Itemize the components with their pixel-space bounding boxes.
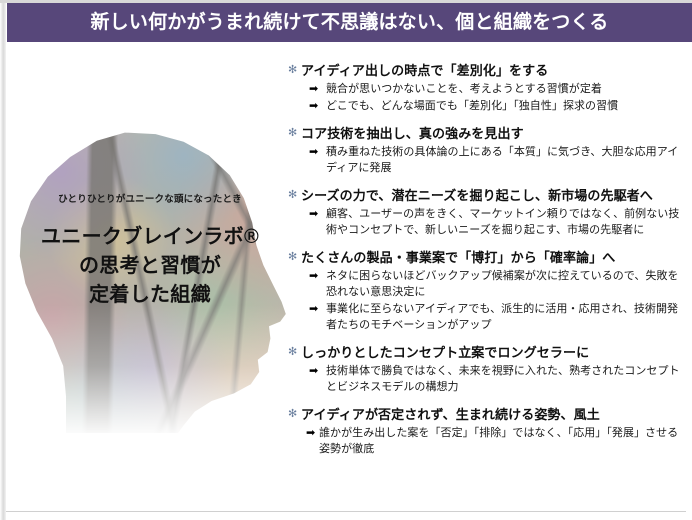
sub-bullet-label: 積み重ねた技術の具体論の上にある「本質」に気づき、大胆な応用アイディアに発展: [326, 144, 686, 176]
main-bullet-item: ✻ しっかりとしたコンセプト立案でロングセラーに: [288, 344, 686, 361]
asterisk-bullet-icon: ✻: [288, 62, 301, 79]
sub-bullet-label: 顧客、ユーザーの声をきく、マーケットイン頼りではなく、前例ない技術やコンセプトで…: [326, 206, 686, 238]
main-bullet-label: しっかりとしたコンセプト立案でロングセラーに: [301, 344, 686, 361]
asterisk-bullet-icon: ✻: [288, 249, 301, 266]
main-bullet-item: ✻ アイディアが否定されず、生まれ続ける姿勢、風土: [288, 406, 686, 423]
asterisk-bullet-icon: ✻: [288, 344, 301, 361]
sub-bullet-item: ➡ 競合が思いつかないことを、考えようとする習慣が定着: [309, 81, 686, 97]
bullet-group: ✻ アイディアが否定されず、生まれ続ける姿勢、風土 ➡ 誰かが生み出した案を「否…: [288, 406, 686, 457]
arrow-right-icon: ➡: [309, 81, 326, 97]
arrow-right-icon: ➡: [309, 301, 326, 317]
main-bullet-item: ✻ コア技術を抽出し、真の強みを見出す: [288, 125, 686, 142]
bullet-list: ✻ アイディア出しの時点で「差別化」をする ➡ 競合が思いつかないことを、考えよ…: [288, 62, 686, 458]
slide-title-bar: 新しい何かがうまれ続けて不思議はない、個と組織をつくる: [7, 3, 692, 42]
main-bullet-item: ✻ シーズの力で、潜在ニーズを掘り起こし、新市場の先駆者へ: [288, 187, 686, 204]
slide-canvas: 新しい何かがうまれ続けて不思議はない、個と組織をつくる ひとりひとりがユニークな…: [0, 0, 692, 520]
main-bullet-item: ✻ アイディア出しの時点で「差別化」をする: [288, 62, 686, 79]
head-title-line-2: の思考と習慣が: [10, 252, 290, 281]
arrow-right-icon: ➡: [309, 206, 326, 222]
arrow-right-icon: ➡: [309, 98, 326, 114]
main-bullet-item: ✻ たくさんの製品・事業案で「博打」から「確率論」へ: [288, 249, 686, 266]
main-bullet-label: シーズの力で、潜在ニーズを掘り起こし、新市場の先駆者へ: [301, 187, 686, 204]
sub-bullet-item: ➡ 技術単体で勝負ではなく、未来を視野に入れた、熟考されたコンセプトとビジネスモ…: [309, 363, 686, 395]
bullet-group: ✻ たくさんの製品・事業案で「博打」から「確率論」へ ➡ ネタに困らないほどバッ…: [288, 249, 686, 333]
head-title-line-1: ユニークブレインラボ®: [10, 223, 290, 252]
head-title-line-3: 定着した組織: [10, 281, 290, 310]
sub-bullet-item: ➡ 顧客、ユーザーの声をきく、マーケットイン頼りではなく、前例ない技術やコンセプ…: [309, 206, 686, 238]
sub-bullet-label: 競合が思いつかないことを、考えようとする習慣が定着: [326, 81, 686, 97]
arrow-right-icon: ➡: [309, 268, 326, 284]
sub-bullet-item: ➡ ネタに困らないほどバックアップ候補案が次に控えているので、失敗を恐れない意思…: [309, 268, 686, 300]
bullet-group: ✻ しっかりとしたコンセプト立案でロングセラーに ➡ 技術単体で勝負ではなく、未…: [288, 344, 686, 395]
sub-bullet-item: ➡ 積み重ねた技術の具体論の上にある「本質」に気づき、大胆な応用アイディアに発展: [309, 144, 686, 176]
arrow-right-icon: ➡: [309, 144, 326, 160]
sub-bullet-item: ➡ 事業化に至らないアイディアでも、派生的に活用・応用され、技術開発者たちのモチ…: [309, 301, 686, 333]
arrow-right-icon: ➡: [306, 425, 319, 441]
main-bullet-label: アイディアが否定されず、生まれ続ける姿勢、風土: [301, 406, 686, 423]
slide-title: 新しい何かがうまれ続けて不思議はない、個と組織をつくる: [90, 13, 608, 32]
bullet-group: ✻ アイディア出しの時点で「差別化」をする ➡ 競合が思いつかないことを、考えよ…: [288, 62, 686, 114]
arrow-right-icon: ➡: [309, 363, 326, 379]
sub-bullet-label: 事業化に至らないアイディアでも、派生的に活用・応用され、技術開発者たちのモチベー…: [326, 301, 686, 333]
sub-bullet-item: ➡ 誰かが生み出した案を「否定」「排除」ではなく、「応用」「発展」させる姿勢が徹…: [306, 425, 686, 457]
main-bullet-label: アイディア出しの時点で「差別化」をする: [301, 62, 686, 79]
page-edge-left: [0, 0, 6, 520]
asterisk-bullet-icon: ✻: [288, 125, 301, 142]
head-graphic-panel: ひとりひとりがユニークな頭になったとき ユニークブレインラボ® の思考と習慣が …: [10, 128, 290, 433]
bullet-group: ✻ シーズの力で、潜在ニーズを掘り起こし、新市場の先駆者へ ➡ 顧客、ユーザーの…: [288, 187, 686, 238]
main-bullet-label: コア技術を抽出し、真の強みを見出す: [301, 125, 686, 142]
asterisk-bullet-icon: ✻: [288, 406, 301, 423]
sub-bullet-label: ネタに困らないほどバックアップ候補案が次に控えているので、失敗を恐れない意思決定…: [326, 268, 686, 300]
page-edge-bottom: [6, 511, 686, 512]
main-bullet-label: たくさんの製品・事業案で「博打」から「確率論」へ: [301, 249, 686, 266]
sub-bullet-label: どこでも、どんな場面でも「差別化」「独自性」探求の習慣: [326, 98, 686, 114]
head-overlay-text: ひとりひとりがユニークな頭になったとき ユニークブレインラボ® の思考と習慣が …: [10, 194, 290, 310]
asterisk-bullet-icon: ✻: [288, 187, 301, 204]
head-kicker-text: ひとりひとりがユニークな頭になったとき: [10, 194, 290, 205]
sub-bullet-label: 誰かが生み出した案を「否定」「排除」ではなく、「応用」「発展」させる姿勢が徹底: [319, 425, 686, 457]
bullet-group: ✻ コア技術を抽出し、真の強みを見出す ➡ 積み重ねた技術の具体論の上にある「本…: [288, 125, 686, 176]
sub-bullet-label: 技術単体で勝負ではなく、未来を視野に入れた、熟考されたコンセプトとビジネスモデル…: [326, 363, 686, 395]
sub-bullet-item: ➡ どこでも、どんな場面でも「差別化」「独自性」探求の習慣: [309, 98, 686, 114]
